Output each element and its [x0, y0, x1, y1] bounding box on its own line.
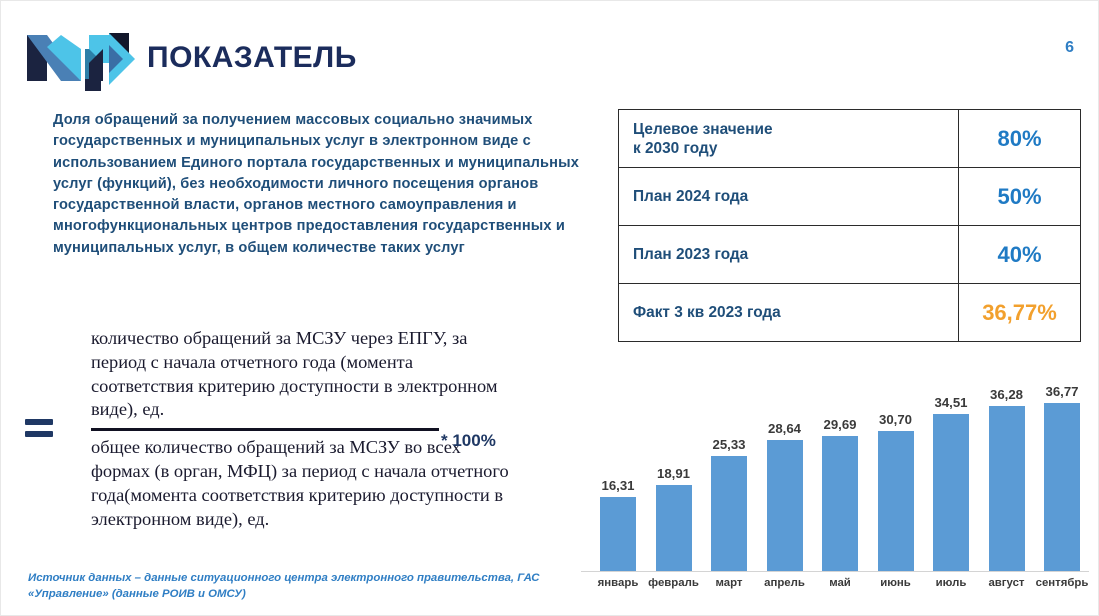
- chart-bar[interactable]: [767, 440, 803, 572]
- chart-bar-value-label: 18,91: [647, 466, 701, 481]
- table-row-label: План 2024 года: [619, 168, 959, 226]
- table-row-value: 80%: [959, 110, 1081, 168]
- chart-bar-slot: 16,31: [591, 359, 645, 572]
- chart-bar-slot: 29,69: [813, 359, 867, 572]
- page-title: ПОКАЗАТЕЛЬ: [147, 41, 357, 75]
- chart-bar[interactable]: [878, 431, 914, 572]
- chart-bar-slot: 34,51: [924, 359, 978, 572]
- chart-bar-value-label: 28,64: [758, 421, 812, 436]
- chart-bar[interactable]: [1044, 403, 1080, 572]
- table-row-label: Факт 3 кв 2023 года: [619, 284, 959, 342]
- table-row: Целевое значениек 2030 году80%: [619, 110, 1081, 168]
- chart-bar[interactable]: [989, 406, 1025, 572]
- table-row: Факт 3 кв 2023 года36,77%: [619, 284, 1081, 342]
- table-row-label: Целевое значениек 2030 году: [619, 110, 959, 168]
- slide-presentation: ПОКАЗАТЕЛЬ 6 Доля обращений за получение…: [0, 0, 1099, 616]
- chart-bar[interactable]: [656, 485, 692, 572]
- chart-bar-value-label: 25,33: [702, 437, 756, 452]
- chart-bar-value-label: 16,31: [591, 478, 645, 493]
- chart-bar[interactable]: [822, 436, 858, 572]
- table-row-value: 36,77%: [959, 284, 1081, 342]
- source-note: Источник данных – данные ситуационного ц…: [28, 571, 568, 602]
- chart-x-axis: январьфевральмартапрельмайиюньиюльавгуст…: [579, 575, 1091, 601]
- page-number: 6: [1065, 39, 1074, 57]
- chart-bar-slot: 36,28: [980, 359, 1034, 572]
- chart-bar-value-label: 30,70: [869, 412, 923, 427]
- ministry-logo: [23, 29, 135, 91]
- chart-bar-value-label: 34,51: [924, 395, 978, 410]
- chart-bar-slot: 18,91: [647, 359, 701, 572]
- chart-bar-slot: 28,64: [758, 359, 812, 572]
- calculation-formula: количество обращений за МСЗУ через ЕПГУ,…: [19, 327, 559, 557]
- chart-bar-slot: 36,77: [1035, 359, 1089, 572]
- chart-bar[interactable]: [600, 497, 636, 572]
- chart-bar-slot: 25,33: [702, 359, 756, 572]
- chart-bar-value-label: 36,28: [980, 387, 1034, 402]
- table-row-value: 50%: [959, 168, 1081, 226]
- slide-header: ПОКАЗАТЕЛЬ 6: [1, 1, 1099, 101]
- formula-multiplier: * 100%: [441, 431, 496, 451]
- chart-bar-value-label: 36,77: [1035, 384, 1089, 399]
- chart-bar[interactable]: [933, 414, 969, 572]
- chart-bar[interactable]: [711, 456, 747, 572]
- table-row: План 2024 года50%: [619, 168, 1081, 226]
- chart-plot-area: 16,3118,9125,3328,6429,6930,7034,5136,28…: [579, 359, 1091, 572]
- chart-x-tick-label: сентябрь: [1029, 577, 1095, 589]
- indicator-description: Доля обращений за получением массовых со…: [53, 110, 590, 259]
- metrics-table-body: Целевое значениек 2030 году80%План 2024 …: [619, 110, 1081, 342]
- formula-numerator: количество обращений за МСЗУ через ЕПГУ,…: [91, 327, 511, 425]
- chart-bar-value-label: 29,69: [813, 417, 867, 432]
- fraction-divider: [91, 428, 439, 431]
- table-row-label: План 2023 года: [619, 226, 959, 284]
- chart-bar-slot: 30,70: [869, 359, 923, 572]
- formula-fraction: количество обращений за МСЗУ через ЕПГУ,…: [91, 327, 511, 531]
- equals-sign-icon: [25, 419, 53, 437]
- monthly-bar-chart: 16,3118,9125,3328,6429,6930,7034,5136,28…: [579, 359, 1091, 609]
- chart-baseline-axis: [581, 571, 1089, 572]
- table-row: План 2023 года40%: [619, 226, 1081, 284]
- metrics-table: Целевое значениек 2030 году80%План 2024 …: [618, 109, 1081, 342]
- table-row-value: 40%: [959, 226, 1081, 284]
